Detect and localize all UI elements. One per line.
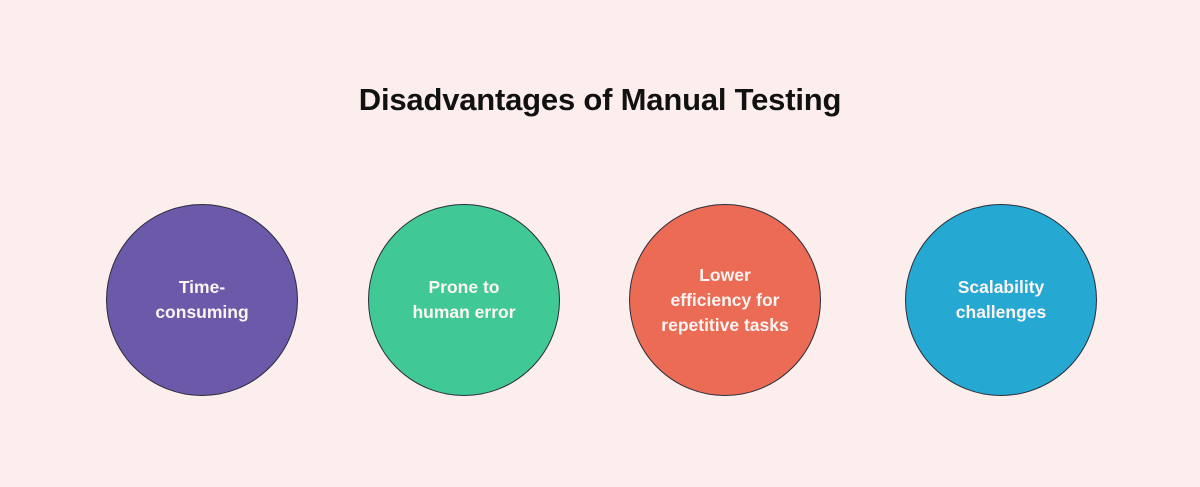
infographic-canvas: Disadvantages of Manual Testing Time-con…: [0, 0, 1200, 487]
bubble-lower-efficiency-for-repetitive-tasks: Lowerefficiency forrepetitive tasks: [629, 204, 821, 396]
bubble-label-lower-efficiency-for-repetitive-tasks: Lowerefficiency forrepetitive tasks: [648, 263, 802, 338]
bubble-row: Time-consuming Prone tohuman error Lower…: [0, 204, 1200, 400]
bubble-scalability-challenges: Scalabilitychallenges: [905, 204, 1097, 396]
bubble-label-time-consuming: Time-consuming: [125, 275, 279, 325]
bubble-prone-to-human-error: Prone tohuman error: [368, 204, 560, 396]
bubble-label-prone-to-human-error: Prone tohuman error: [387, 275, 541, 325]
bubble-label-scalability-challenges: Scalabilitychallenges: [924, 275, 1078, 325]
bubble-time-consuming: Time-consuming: [106, 204, 298, 396]
page-title: Disadvantages of Manual Testing: [0, 80, 1200, 120]
